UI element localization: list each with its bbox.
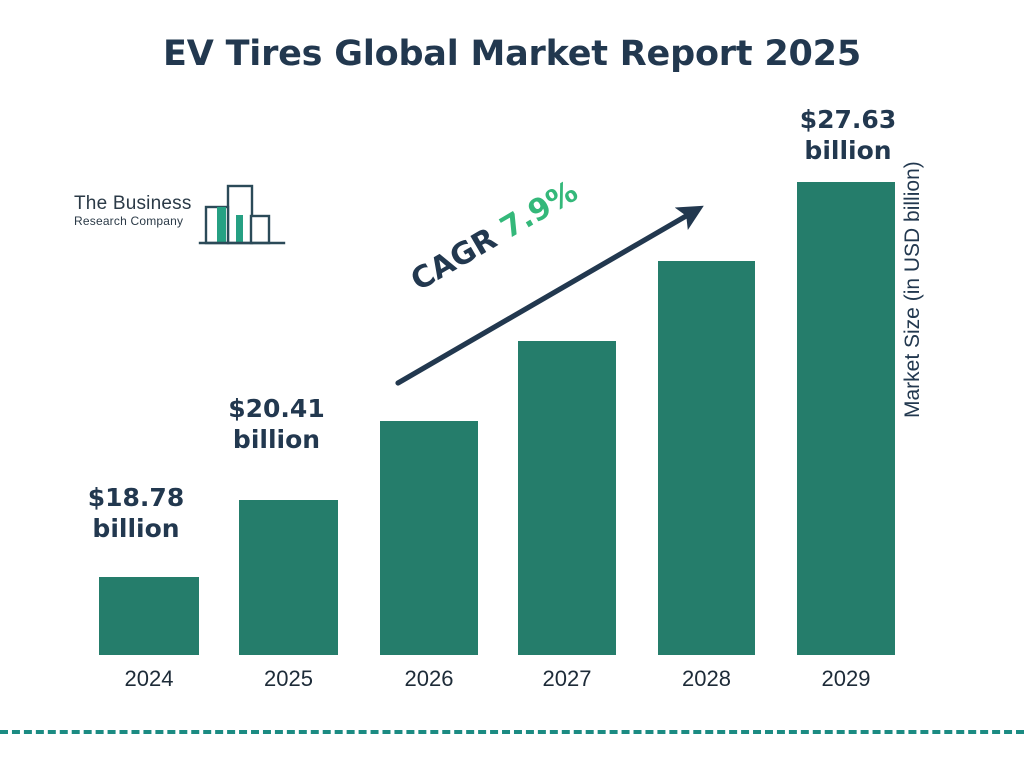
bar-chart-plot-area: $18.78 billion $20.41 billion $27.63 bil… [0, 0, 1024, 768]
cagr-trend-arrow [0, 0, 1024, 768]
chart-page: EV Tires Global Market Report 2025 The B… [0, 0, 1024, 768]
y-axis-title: Market Size (in USD billion) [901, 78, 925, 418]
footer-divider [0, 730, 1024, 734]
